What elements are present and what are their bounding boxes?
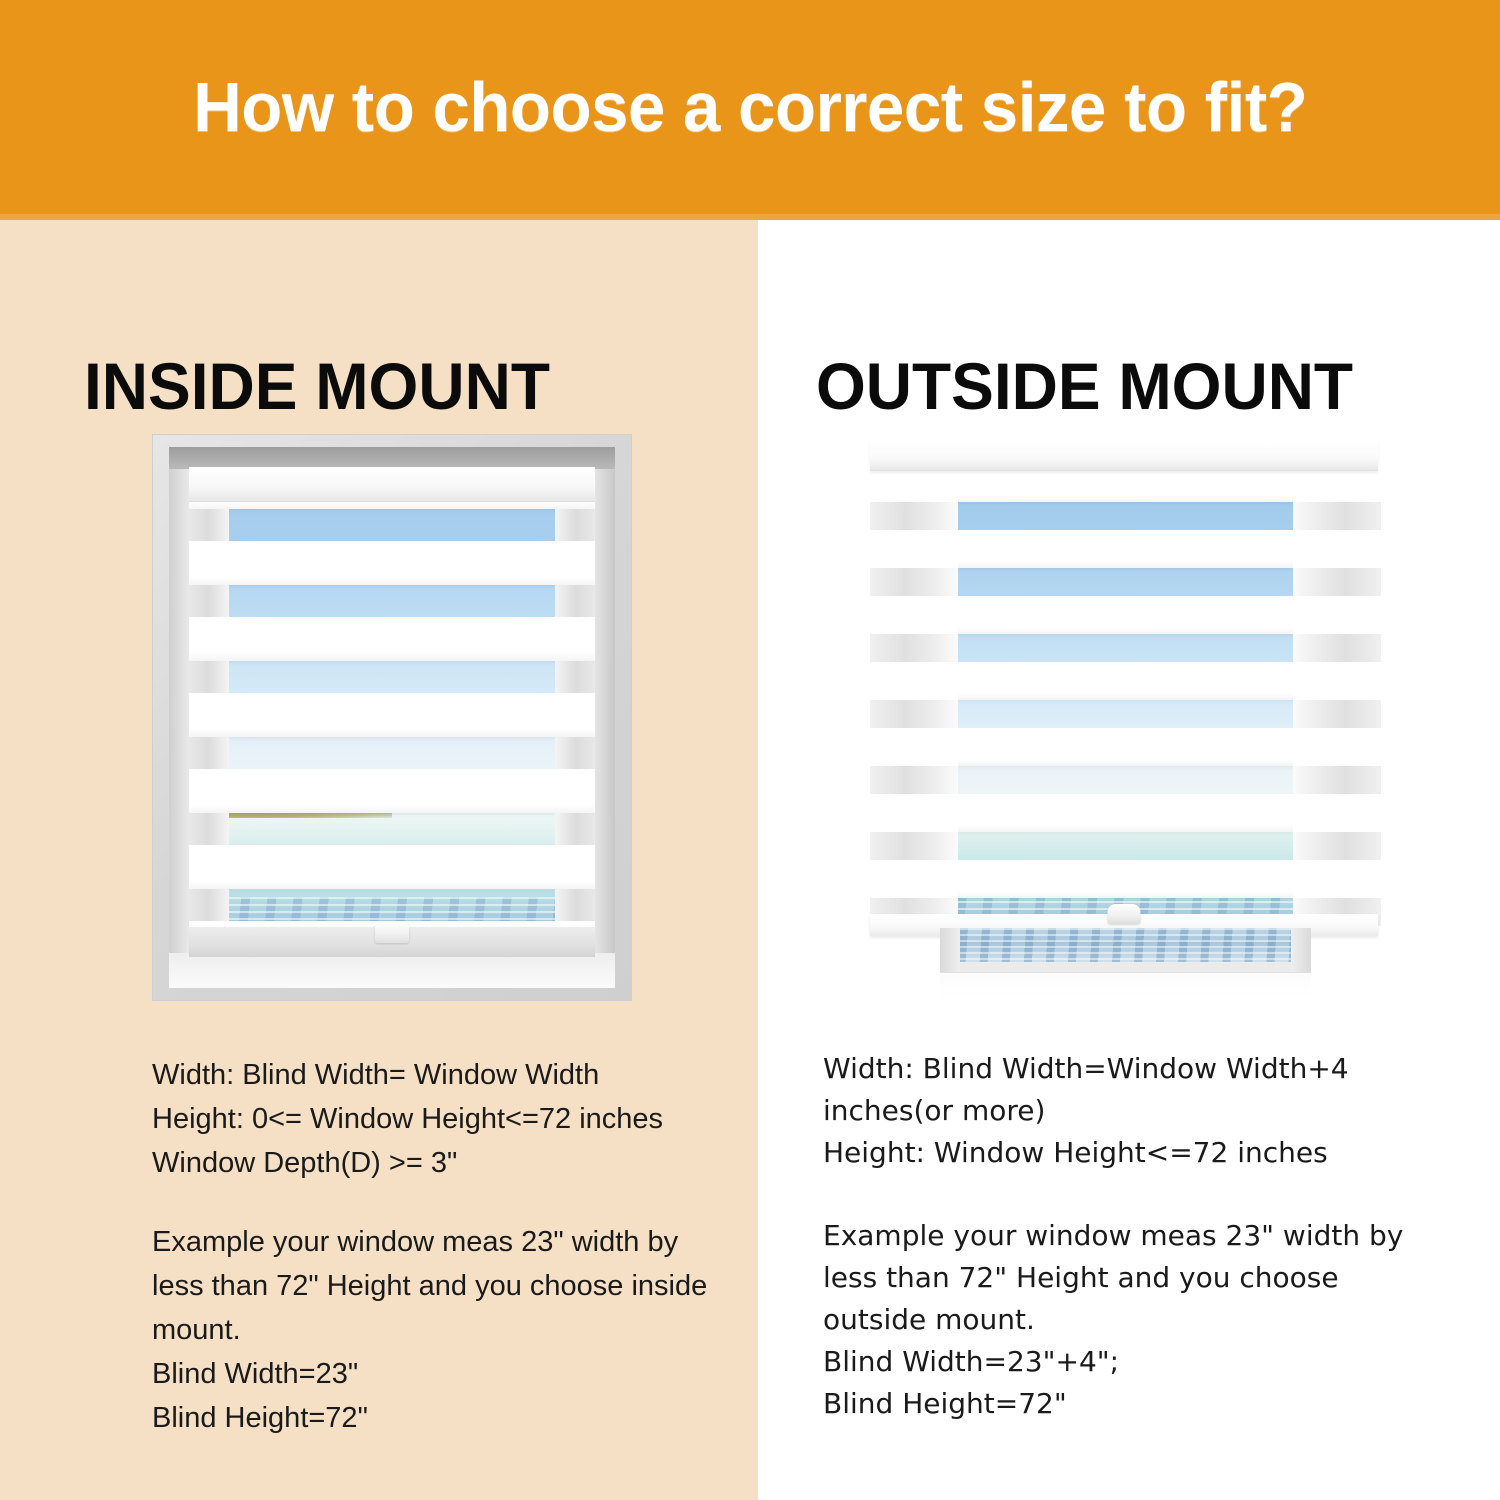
blind-overhang-left [870,700,958,728]
example-line: less than 72" Height and you choose [823,1257,1423,1299]
example-line: mount. [152,1308,732,1352]
content-stage: INSIDE MOUNT [0,220,1500,1500]
zebra-blind-fabric [189,469,595,955]
inside-mount-rules: Width: Blind Width= Window Width Height:… [152,1053,732,1185]
outside-mount-heading: OUTSIDE MOUNT [816,353,1353,419]
blind-handle[interactable] [375,921,409,943]
blind-tape-right [555,737,595,769]
blind-tape-left [189,661,229,693]
blind-overhang-right [1293,700,1381,728]
inside-mount-heading: INSIDE MOUNT [84,353,550,419]
rule-line: Height: 0<= Window Height<=72 inches [152,1097,732,1141]
blind-tape-right [555,585,595,617]
example-line: Example your window meas 23" width by [823,1215,1423,1257]
blind-overhang-right [1293,766,1381,794]
window-reveal-right [595,447,615,988]
blind-overhang-right [1293,568,1381,596]
blind-gap-row [888,634,1363,662]
example-line: Blind Width=23" [152,1352,732,1396]
blind-tape-left [189,813,229,845]
window-jamb-right [1291,928,1311,978]
example-line: outside mount. [823,1299,1423,1341]
blind-gap-row [888,502,1363,530]
blind-band [189,617,595,661]
example-line: less than 72" Height and you choose insi… [152,1264,732,1308]
outside-mount-window-illustration [870,432,1378,1002]
blind-band [189,541,595,585]
inside-mount-window-illustration [153,435,631,1000]
blind-band [189,845,595,889]
rule-line: Window Depth(D) >= 3" [152,1141,732,1185]
blind-tape-left [189,509,229,541]
example-line: Blind Height=72" [152,1396,732,1440]
example-line: Example your window meas 23" width by [152,1220,732,1264]
blind-headrail [189,467,595,502]
window-sill [169,953,615,988]
sea-view-strip [960,928,1291,962]
rule-line: Width: Blind Width= Window Width [152,1053,732,1097]
blind-overhang-right [1293,832,1381,860]
blind-overhang-right [1293,502,1381,530]
page-title: How to choose a correct size to fit? [193,72,1307,142]
blind-tape-right [555,509,595,541]
blind-gap-row [888,700,1363,728]
blind-tape-right [555,813,595,845]
outside-mount-example: Example your window meas 23" width by le… [823,1215,1423,1425]
blind-overhang-left [870,832,958,860]
example-line: Blind Width=23"+4"; [823,1341,1423,1383]
blind-overhang-left [870,502,958,530]
blind-tape-right [555,889,595,921]
blind-tape-right [555,661,595,693]
panel-inside-mount: INSIDE MOUNT [0,220,758,1500]
outside-mount-rules: Width: Blind Width=Window Width+4 inches… [823,1048,1423,1174]
window-reveal-left [169,447,189,988]
blind-gap-row [888,766,1363,794]
blind-overhang-right [1293,634,1381,662]
rule-line: inches(or more) [823,1090,1423,1132]
blind-tape-left [189,889,229,921]
blind-tape-left [189,585,229,617]
window-frame-below-blind [940,928,1311,1002]
window-sill [940,972,1311,1002]
blind-gap-row [888,568,1363,596]
blind-band [189,693,595,737]
blind-overhang-left [870,766,958,794]
window-glass-area [189,469,595,955]
panel-outside-mount: OUTSIDE MOUNT [758,220,1500,1500]
blind-slats-overhang [888,480,1363,910]
example-line: Blind Height=72" [823,1383,1423,1425]
window-reveal-top [169,447,615,469]
blind-overhang-left [870,568,958,596]
blind-gap-row [888,832,1363,860]
rule-line: Height: Window Height<=72 inches [823,1132,1423,1174]
blind-tape-left [189,737,229,769]
blind-handle[interactable] [1108,904,1141,924]
blind-band [189,769,595,813]
header-banner: How to choose a correct size to fit? [0,0,1500,214]
blind-headrail [870,440,1378,471]
blind-overhang-left [870,634,958,662]
rule-line: Width: Blind Width=Window Width+4 [823,1048,1423,1090]
window-jamb-left [940,928,960,978]
inside-mount-example: Example your window meas 23" width by le… [152,1220,732,1440]
